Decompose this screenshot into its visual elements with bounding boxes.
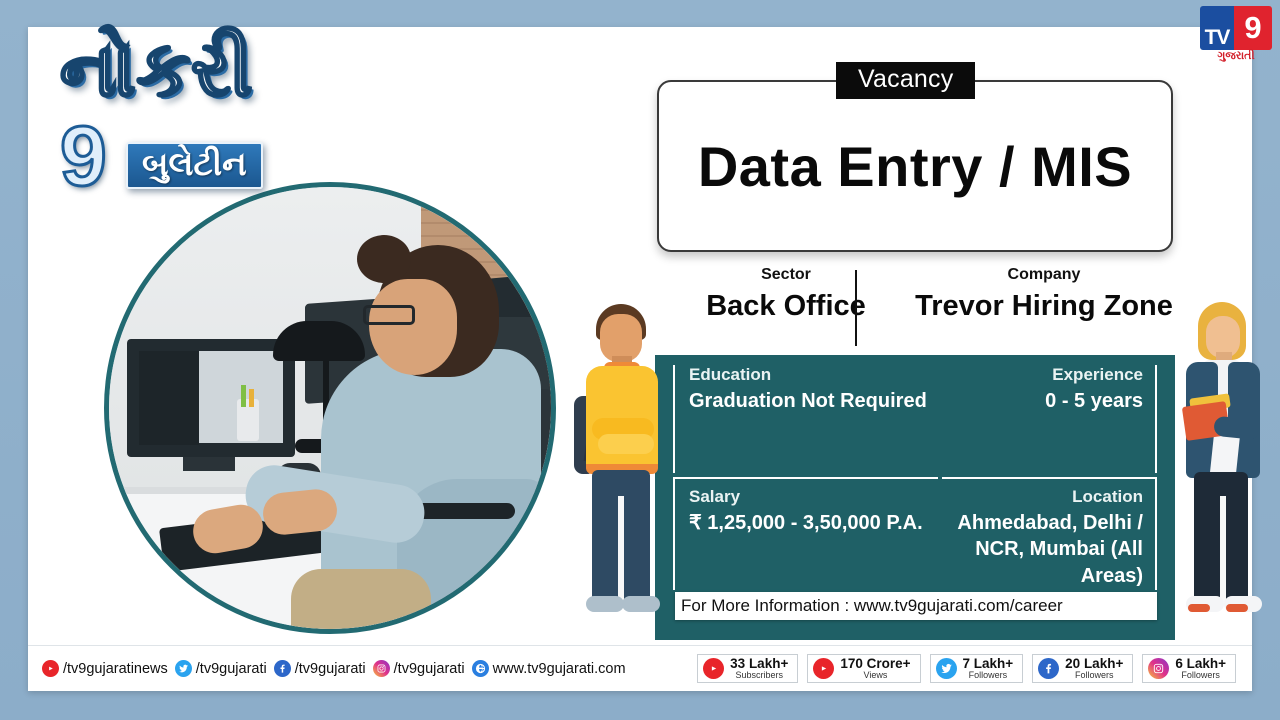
experience-value: 0 - 5 years	[942, 388, 1143, 414]
job-title-box: Data Entry / MIS	[657, 80, 1173, 252]
social-handle-text: /tv9gujarati	[295, 661, 366, 677]
social-stat-badge: 6 Lakh+Followers	[1142, 654, 1236, 684]
social-stat-badge: 170 Crore+Views	[807, 654, 920, 684]
company-block: Company Trevor Hiring Zone	[915, 266, 1173, 350]
job-details-grid: Education Graduation Not Required Experi…	[673, 365, 1157, 590]
youtube-icon	[813, 658, 834, 679]
badge-text: 6 Lakh+Followers	[1175, 657, 1226, 681]
job-title: Data Entry / MIS	[698, 134, 1132, 199]
badge-count: 170 Crore+	[840, 657, 910, 671]
location-value: Ahmedabad, Delhi / NCR, Mumbai (All Area…	[942, 510, 1143, 589]
location-label: Location	[942, 487, 1143, 507]
youtube-icon	[703, 658, 724, 679]
social-handle-text: www.tv9gujarati.com	[493, 661, 626, 677]
social-handle[interactable]: /tv9gujarati	[274, 660, 366, 677]
sector-label: Sector	[657, 266, 915, 284]
office-worker-photo	[104, 182, 556, 634]
logo-bulletin-banner: બુલેટીન	[126, 142, 263, 189]
youtube-icon	[42, 660, 59, 677]
infographic-canvas: TV 9 ગુજરાતી નોકરી 9 બુલેટીન	[0, 0, 1280, 720]
twitter-icon	[175, 660, 192, 677]
sector-company-divider	[855, 270, 857, 346]
logo-title-gujarati: નોકરી	[60, 32, 253, 108]
badge-count: 20 Lakh+	[1065, 657, 1123, 671]
more-information-text: For More Information : www.tv9gujarati.c…	[675, 596, 1063, 616]
badge-label: Views	[840, 671, 910, 680]
education-cell: Education Graduation Not Required	[673, 365, 938, 473]
badge-text: 170 Crore+Views	[840, 657, 910, 681]
salary-value: ₹ 1,25,000 - 3,50,000 P.A.	[689, 510, 938, 536]
sector-value: Back Office	[657, 290, 915, 323]
badge-label: Subscribers	[730, 671, 788, 680]
badge-count: 6 Lakh+	[1175, 657, 1226, 671]
social-handle-text: /tv9gujarati	[394, 661, 465, 677]
badge-label: Followers	[963, 671, 1014, 680]
badge-text: 33 Lakh+Subscribers	[730, 657, 788, 681]
tv9-logo-blocks: TV 9	[1200, 6, 1272, 50]
social-stat-badge: 20 Lakh+Followers	[1032, 654, 1133, 684]
education-value: Graduation Not Required	[689, 388, 938, 414]
nokri-bulletin-logo: નોકરી 9 બુલેટીન	[48, 32, 328, 222]
facebook-icon	[1038, 658, 1059, 679]
social-handle[interactable]: /tv9gujaratinews	[42, 660, 168, 677]
logo-nine-glyph: 9	[60, 114, 107, 198]
badge-count: 7 Lakh+	[963, 657, 1014, 671]
instagram-icon	[1148, 658, 1169, 679]
facebook-icon	[274, 660, 291, 677]
social-stat-badge: 7 Lakh+Followers	[930, 654, 1024, 684]
social-stat-badges: 33 Lakh+Subscribers170 Crore+Views7 Lakh…	[697, 654, 1252, 684]
tv9-logo: TV 9 ગુજરાતી	[1200, 6, 1272, 68]
experience-label: Experience	[942, 365, 1143, 385]
salary-cell: Salary ₹ 1,25,000 - 3,50,000 P.A.	[673, 477, 938, 590]
tv9-logo-nine: 9	[1234, 6, 1272, 50]
badge-label: Followers	[1175, 671, 1226, 680]
logo-bulletin-text: બુલેટીન	[142, 145, 247, 182]
education-label: Education	[689, 365, 938, 385]
social-stat-badge: 33 Lakh+Subscribers	[697, 654, 798, 684]
social-footer: /tv9gujaratinews/tv9gujarati/tv9gujarati…	[28, 645, 1252, 691]
tv9-logo-subtitle: ગુજરાતી	[1200, 50, 1272, 63]
professional-illustration	[1172, 300, 1268, 638]
social-handle[interactable]: /tv9gujarati	[373, 660, 465, 677]
badge-count: 33 Lakh+	[730, 657, 788, 671]
social-handle[interactable]: www.tv9gujarati.com	[472, 660, 626, 677]
badge-text: 7 Lakh+Followers	[963, 657, 1014, 681]
social-handle-text: /tv9gujarati	[196, 661, 267, 677]
sector-block: Sector Back Office	[657, 266, 915, 350]
badge-text: 20 Lakh+Followers	[1065, 657, 1123, 681]
tv9-logo-tv: TV	[1200, 6, 1234, 50]
company-label: Company	[915, 266, 1173, 284]
social-handle[interactable]: /tv9gujarati	[175, 660, 267, 677]
instagram-icon	[373, 660, 390, 677]
company-value: Trevor Hiring Zone	[915, 290, 1173, 323]
more-information-bar[interactable]: For More Information : www.tv9gujarati.c…	[675, 592, 1157, 620]
student-illustration	[572, 300, 668, 638]
salary-label: Salary	[689, 487, 938, 507]
vacancy-tag: Vacancy	[836, 62, 975, 99]
twitter-icon	[936, 658, 957, 679]
experience-cell: Experience 0 - 5 years	[942, 365, 1157, 473]
location-cell: Location Ahmedabad, Delhi / NCR, Mumbai …	[942, 477, 1157, 590]
globe-icon	[472, 660, 489, 677]
social-handle-text: /tv9gujaratinews	[63, 661, 168, 677]
social-handles: /tv9gujaratinews/tv9gujarati/tv9gujarati…	[28, 660, 626, 677]
sector-company-row: Sector Back Office Company Trevor Hiring…	[657, 266, 1173, 350]
badge-label: Followers	[1065, 671, 1123, 680]
